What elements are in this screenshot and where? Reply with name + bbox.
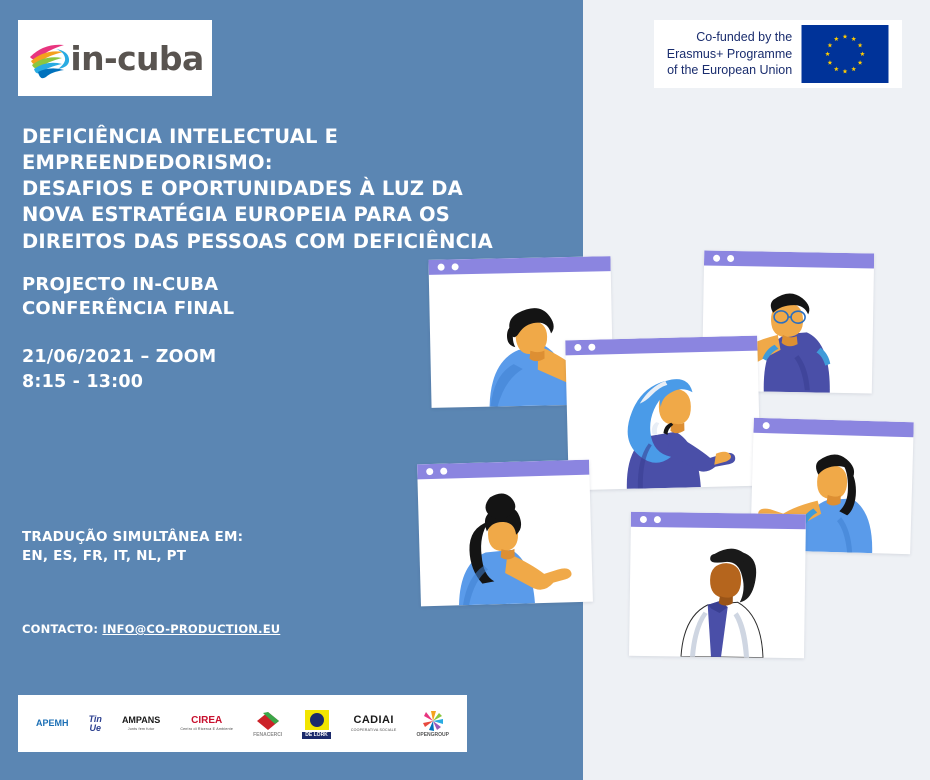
partner-logo-apemh: APEMH — [36, 719, 69, 728]
window-dot-icon — [588, 344, 595, 351]
contact-label: CONTACTO: — [22, 622, 98, 636]
event-date-platform: 21/06/2021 – ZOOM — [22, 345, 216, 370]
contact-info: CONTACTO: INFO@CO-PRODUCTION.EU — [22, 622, 280, 636]
title-line-2: EMPREENDEDORISMO: — [22, 150, 542, 176]
translation-info: TRADUÇÃO SIMULTÂNEA EM: EN, ES, FR, IT, … — [22, 528, 243, 566]
opengroup-mark-icon — [420, 710, 446, 732]
in-cuba-wing-icon — [26, 35, 72, 81]
partner-sublabel: Junts fem futur — [128, 727, 155, 731]
partner-label: CADIAI — [353, 715, 393, 726]
subtitle: PROJECTO IN-CUBA CONFERÊNCIA FINAL — [22, 273, 234, 322]
erasmus-badge-text: Co-funded by the Erasmus+ Programme of t… — [667, 29, 792, 79]
subtitle-line-1: PROJECTO IN-CUBA — [22, 273, 234, 297]
title-line-5: DIREITOS DAS PESSOAS COM DEFICIÊNCIA — [22, 229, 542, 255]
partner-logo-fenacerci: FENACERCI — [253, 710, 282, 738]
partner-logo-cadiai: CADIAI COOPERATIVA SOCIALE — [351, 715, 397, 732]
title-line-1: DEFICIÊNCIA INTELECTUAL E — [22, 124, 542, 150]
partner-label: CIREA — [191, 716, 222, 726]
title-line-4: NOVA ESTRATÉGIA EUROPEIA PARA OS — [22, 202, 542, 228]
in-cuba-wordmark: in-cuba — [70, 42, 203, 75]
partner-label: AMPANS — [122, 716, 160, 725]
window-dot-icon — [654, 516, 661, 523]
window-dot-icon — [438, 264, 445, 271]
window-dot-icon — [426, 468, 433, 475]
person-curly-hair-white-shirt-tie — [629, 527, 806, 658]
partner-label: DE LORK — [302, 732, 331, 739]
translation-languages: EN, ES, FR, IT, NL, PT — [22, 547, 243, 566]
contact-email-link[interactable]: INFO@CO-PRODUCTION.EU — [102, 622, 280, 636]
in-cuba-logo: in-cuba — [18, 20, 212, 96]
de-lork-mark-icon — [304, 709, 330, 731]
partner-label: APEMH — [36, 719, 69, 728]
erasmus-eu-badge: Co-funded by the Erasmus+ Programme of t… — [654, 20, 902, 88]
partner-label: OPENGROUP — [416, 733, 449, 738]
event-datetime: 21/06/2021 – ZOOM 8:15 - 13:00 — [22, 345, 216, 394]
window-dot-icon — [727, 255, 734, 262]
partner-sublabel: Centro di Ricerca E Ambiente — [180, 727, 233, 731]
window-dot-icon — [763, 422, 770, 429]
window-dot-icon — [574, 344, 581, 351]
partner-logo-opengroup: OPENGROUP — [416, 710, 449, 738]
eu-badge-line-3: of the European Union — [667, 62, 792, 79]
person-blue-hair-indigo-sweater — [566, 351, 761, 491]
window-dot-icon — [452, 263, 459, 270]
translation-heading: TRADUÇÃO SIMULTÂNEA EM: — [22, 528, 243, 547]
partner-logos-strip: APEMH Tin Ue AMPANS Junts fem futur CIRE… — [18, 695, 467, 752]
window-center — [565, 336, 761, 491]
eu-badge-line-2: Erasmus+ Programme — [667, 46, 792, 63]
partner-sublabel: COOPERATIVA SOCIALE — [351, 728, 397, 732]
person-hair-bun-blue-sweater — [417, 475, 592, 607]
window-bottom-left — [417, 460, 593, 607]
subtitle-line-2: CONFERÊNCIA FINAL — [22, 297, 234, 321]
eu-badge-line-1: Co-funded by the — [667, 29, 792, 46]
event-time-range: 8:15 - 13:00 — [22, 370, 216, 395]
window-bottom-center — [629, 512, 806, 658]
partner-logo-cirea: CIREA Centro di Ricerca E Ambiente — [180, 716, 233, 732]
title-line-3: DESAFIOS E OPORTUNIDADES À LUZ DA — [22, 176, 542, 202]
partner-logo-tinue: Tin Ue — [89, 715, 102, 733]
page-title: DEFICIÊNCIA INTELECTUAL E EMPREENDEDORIS… — [22, 124, 542, 255]
window-dot-icon — [713, 255, 720, 262]
window-dot-icon — [640, 516, 647, 523]
conference-poster: in-cuba Co-funded by the Erasmus+ Progra… — [0, 0, 930, 780]
european-union-flag-icon — [801, 25, 889, 83]
fenacerci-mark-icon — [255, 710, 281, 732]
partner-label: FENACERCI — [253, 733, 282, 738]
partner-logo-ampans: AMPANS Junts fem futur — [122, 716, 160, 731]
partner-logo-de-lork: DE LORK — [302, 709, 331, 739]
partner-label-sub: Ue — [89, 724, 101, 733]
window-dot-icon — [440, 468, 447, 475]
